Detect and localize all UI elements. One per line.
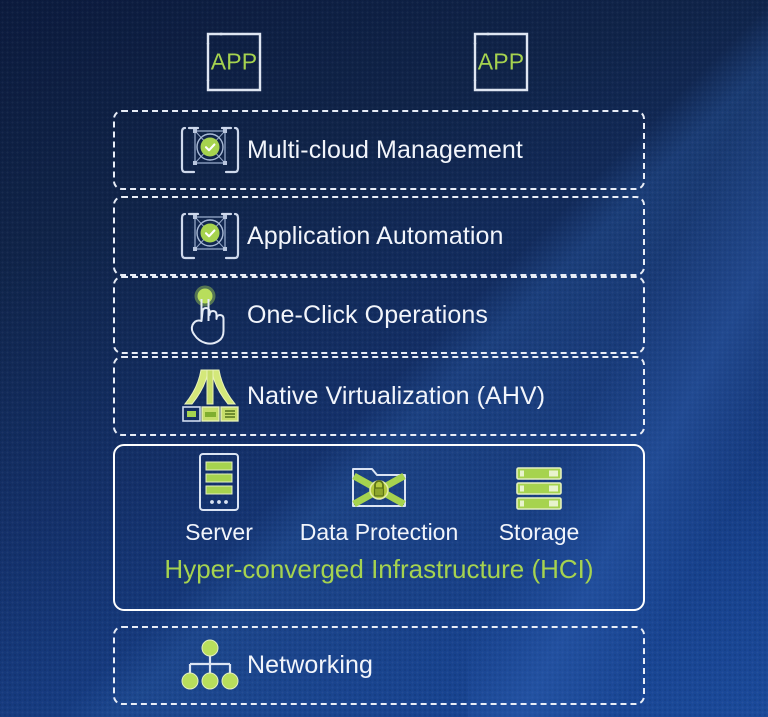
storage-icon [513, 450, 565, 512]
stack-row-networking[interactable]: Networking [113, 626, 645, 705]
app-badge-label: APP [205, 51, 263, 74]
server-icon [196, 450, 242, 512]
hci-title: Hyper-converged Infrastructure (HCI) [164, 554, 593, 585]
hci-block[interactable]: Server Data Protection [113, 444, 645, 611]
click-hand-icon [173, 278, 247, 352]
data-protection-icon [349, 450, 409, 512]
app-badge-right: APP [472, 31, 530, 93]
stack-row-label: Application Automation [247, 222, 504, 251]
hci-pillar-server: Server [139, 450, 299, 546]
network-tree-icon [173, 628, 247, 703]
virtualization-icon [173, 358, 247, 434]
hci-pillar-group: Server Data Protection [115, 446, 643, 546]
hci-pillar-storage: Storage [459, 450, 619, 546]
diagram-canvas: APP APP Multi-cloud M [0, 0, 768, 717]
app-badge-left: APP [205, 31, 263, 93]
hci-pillar-data-protection: Data Protection [299, 450, 459, 546]
hci-pillar-label: Storage [499, 519, 580, 546]
cloud-management-icon [173, 112, 247, 188]
stack-row-one-click-operations[interactable]: One-Click Operations [113, 276, 645, 354]
hci-pillar-label: Data Protection [300, 519, 459, 546]
cloud-management-icon [173, 198, 247, 274]
app-badge-label: APP [472, 51, 530, 74]
stack-row-label: Native Virtualization (AHV) [247, 382, 545, 411]
stack-row-label: One-Click Operations [247, 301, 488, 330]
stack-row-label: Networking [247, 651, 373, 680]
hci-pillar-label: Server [185, 519, 253, 546]
stack-row-multi-cloud-management[interactable]: Multi-cloud Management [113, 110, 645, 190]
stack-row-native-virtualization[interactable]: Native Virtualization (AHV) [113, 356, 645, 436]
stack-row-label: Multi-cloud Management [247, 136, 523, 165]
stack-row-application-automation[interactable]: Application Automation [113, 196, 645, 276]
